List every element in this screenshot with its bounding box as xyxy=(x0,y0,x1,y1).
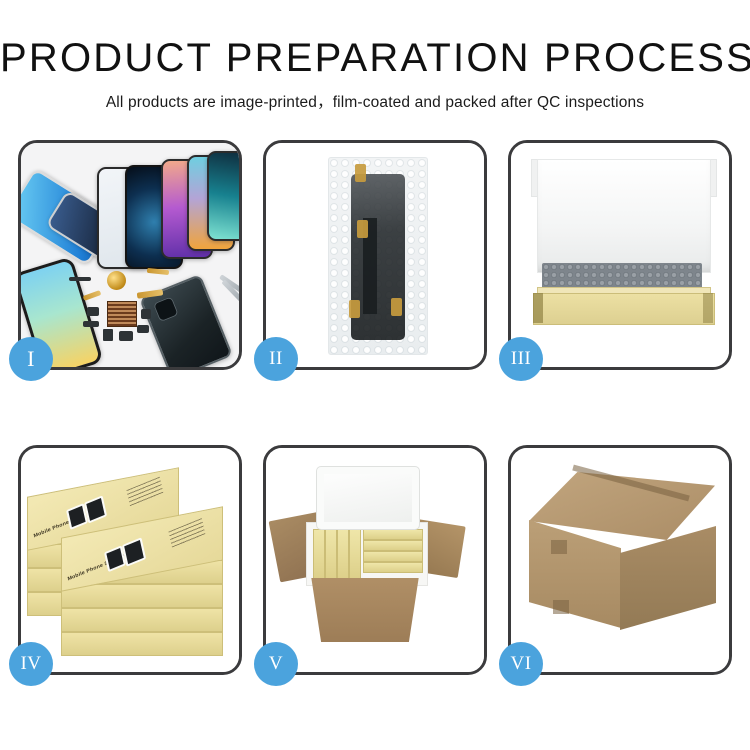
tape-tab xyxy=(391,298,402,316)
process-grid: I II III xyxy=(18,140,732,675)
step-badge-4: IV xyxy=(9,642,53,686)
yellow-box xyxy=(337,529,349,579)
yellow-box xyxy=(363,529,423,540)
box-label-spec-lines xyxy=(169,518,206,548)
yellow-box xyxy=(363,562,423,573)
small-part xyxy=(69,277,91,281)
step-badge-6: VI xyxy=(499,642,543,686)
carton-right-face xyxy=(620,526,716,630)
copper-grid-part xyxy=(107,301,137,327)
carton-front xyxy=(304,578,426,642)
step-panel-5[interactable]: V xyxy=(263,445,487,675)
foam-lid xyxy=(316,466,420,530)
box-corner-left xyxy=(533,293,543,323)
step-badge-1: I xyxy=(9,337,53,381)
carton-left-face xyxy=(529,520,621,628)
yellow-box xyxy=(363,540,423,551)
step-2-image xyxy=(266,143,484,367)
tape-tab xyxy=(357,220,368,238)
small-part xyxy=(141,309,151,319)
step-panel-4[interactable]: Mobile Phone Spare Parts Mobile Phone Sp… xyxy=(18,445,242,675)
flex-cable xyxy=(83,290,102,301)
carton-tape-patch xyxy=(551,540,567,554)
flex-cable xyxy=(147,268,169,275)
step-badge-3: III xyxy=(499,337,543,381)
step-1-image xyxy=(21,143,239,367)
yellow-box xyxy=(363,551,423,562)
step-6-image xyxy=(511,448,729,672)
small-part xyxy=(137,325,149,333)
box-corner-right xyxy=(703,293,713,323)
step-5-image xyxy=(266,448,484,672)
step-panel-2[interactable]: II xyxy=(263,140,487,370)
step-panel-1[interactable]: I xyxy=(18,140,242,370)
phone-display-teal xyxy=(207,151,239,241)
box-stack: Mobile Phone Spare Parts Mobile Phone Sp… xyxy=(27,464,235,662)
gold-coil-part xyxy=(107,271,126,290)
step-panel-3[interactable]: III xyxy=(508,140,732,370)
header: PRODUCT PREPARATION PROCESS All products… xyxy=(0,0,750,112)
small-part xyxy=(119,331,133,341)
box-label-phone-image xyxy=(84,495,107,523)
step-badge-2: II xyxy=(254,337,298,381)
bubble-wrap-bag xyxy=(328,157,428,355)
box-label-spec-lines xyxy=(127,477,164,507)
box-label-phone-image xyxy=(122,537,146,567)
box-lid-white xyxy=(537,159,711,273)
phone-backplate xyxy=(139,274,233,367)
yellow-box xyxy=(313,529,325,579)
small-part xyxy=(103,329,113,341)
small-part xyxy=(83,321,99,327)
stacked-box xyxy=(61,608,223,632)
step-badge-5: V xyxy=(254,642,298,686)
step-panel-6[interactable]: VI xyxy=(508,445,732,675)
page-title: PRODUCT PREPARATION PROCESS xyxy=(0,36,750,80)
small-part xyxy=(87,307,99,316)
step-4-image: Mobile Phone Spare Parts Mobile Phone Sp… xyxy=(21,448,239,672)
tape-tab xyxy=(355,164,366,182)
box-front-yellow xyxy=(533,293,715,325)
tape-tab xyxy=(349,300,360,318)
carton-tape-patch xyxy=(553,600,569,614)
yellow-box xyxy=(349,529,361,579)
yellow-box xyxy=(325,529,337,579)
foam-liner xyxy=(306,522,428,586)
stacked-box xyxy=(61,584,223,608)
page-subtitle: All products are image-printed，film-coat… xyxy=(0,90,750,112)
stacked-box xyxy=(61,632,223,656)
step-3-image xyxy=(511,143,729,367)
